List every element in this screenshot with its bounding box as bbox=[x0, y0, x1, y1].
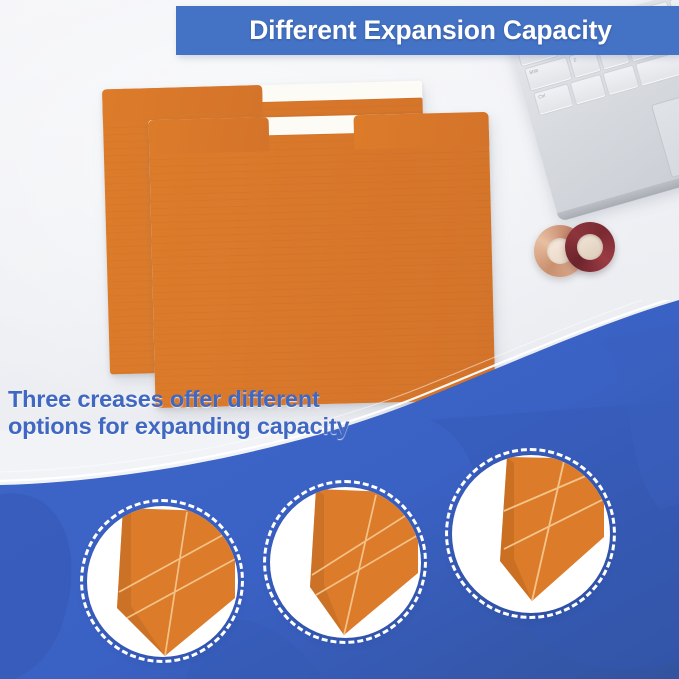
callout-text: Three creases offer different options fo… bbox=[8, 386, 438, 440]
key-fn bbox=[570, 74, 607, 106]
crease-diagram-two bbox=[270, 487, 421, 638]
crease-diagram-one bbox=[87, 506, 238, 657]
washi-tape-dark-red bbox=[565, 222, 615, 272]
tape-core bbox=[577, 234, 603, 260]
key-label: Z bbox=[573, 57, 577, 63]
callout-line-1: Three creases offer different bbox=[8, 386, 320, 412]
folder-tab-face-left bbox=[149, 117, 270, 154]
crease-diagram-three bbox=[452, 455, 610, 613]
infographic-canvas: Caps F1 F2 F3 Shift Z X C V Ctrl bbox=[0, 0, 679, 679]
key-label: Ctrl bbox=[538, 93, 546, 100]
crease-detail-circle-two[interactable] bbox=[270, 487, 421, 638]
callout-line-2: options for expanding capacity bbox=[8, 413, 438, 440]
folder-tab-face-right bbox=[353, 112, 489, 149]
crease-detail-circle-one[interactable] bbox=[87, 506, 238, 657]
crease-detail-circle-three[interactable] bbox=[452, 455, 610, 613]
page-title: Different Expansion Capacity bbox=[249, 15, 612, 46]
key-label: Shift bbox=[529, 68, 539, 75]
folder-corner-shape bbox=[310, 489, 418, 635]
header-banner: Different Expansion Capacity bbox=[176, 6, 679, 55]
folder-tab-face bbox=[102, 85, 263, 121]
